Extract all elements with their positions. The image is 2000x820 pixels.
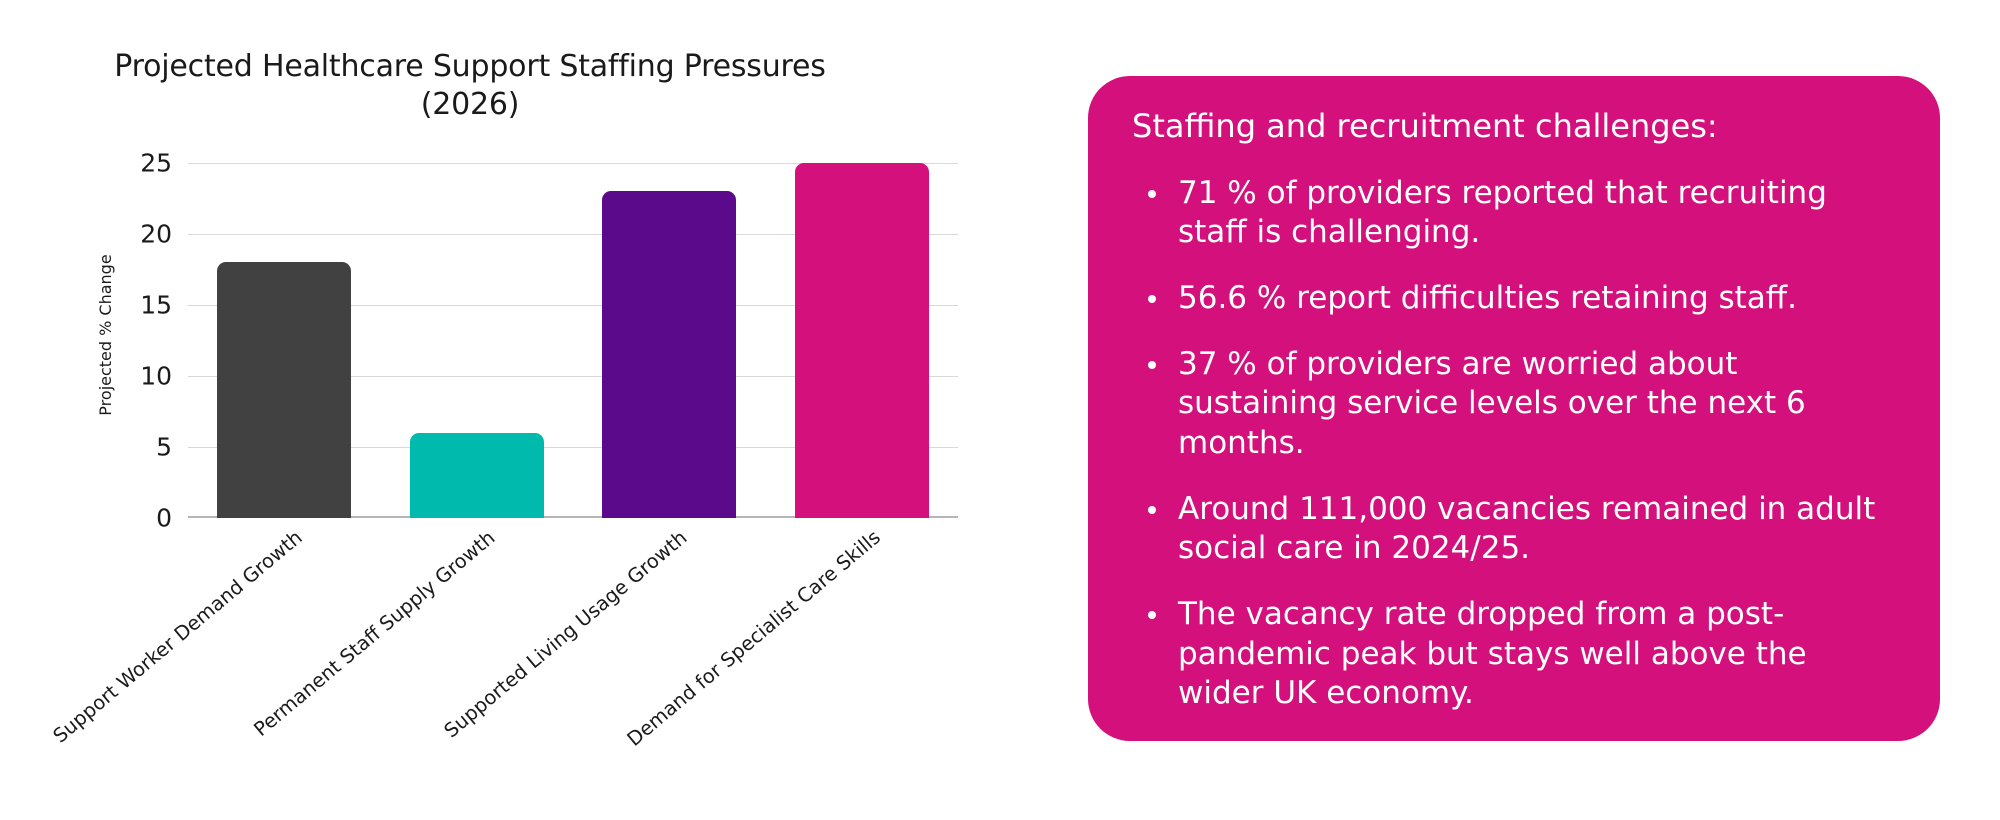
bar-demand-for-specialist-care-skills[interactable]: [795, 163, 929, 518]
list-item: 37 % of providers are worried about sust…: [1140, 345, 1896, 464]
y-tick-0: 0: [116, 504, 186, 533]
y-axis-label: Projected % Change: [96, 175, 115, 495]
bullet-text: Around 111,000 vacancies remained in adu…: [1178, 491, 1875, 567]
y-tick-20: 20: [116, 220, 186, 249]
bullet-text: 71 % of providers reported that recruiti…: [1178, 175, 1827, 251]
bar-slot-1: [381, 158, 574, 518]
y-tick-5: 5: [116, 433, 186, 462]
y-tick-25: 25: [116, 149, 186, 178]
bullet-text: 37 % of providers are worried about sust…: [1178, 346, 1806, 461]
x-slot-3: Demand for Specialist Care Skills: [766, 522, 959, 523]
bar-chart-panel: Projected Healthcare Support Staffing Pr…: [0, 0, 1050, 820]
list-item: 56.6 % report difficulties retaining sta…: [1140, 279, 1896, 319]
y-tick-15: 15: [116, 291, 186, 320]
bar-slot-2: [573, 158, 766, 518]
challenges-bullet-list: 71 % of providers reported that recruiti…: [1132, 174, 1896, 714]
bar-support-worker-demand-growth[interactable]: [217, 262, 351, 518]
card-heading: Staffing and recruitment challenges:: [1132, 106, 1896, 148]
x-slot-2: Supported Living Usage Growth: [573, 522, 766, 523]
chart-title: Projected Healthcare Support Staffing Pr…: [0, 48, 940, 123]
bullet-dot-icon: [1148, 506, 1156, 514]
bullet-dot-icon: [1148, 295, 1156, 303]
chart-title-line1: Projected Healthcare Support Staffing Pr…: [0, 48, 940, 86]
y-tick-10: 10: [116, 362, 186, 391]
bar-slot-0: [188, 158, 381, 518]
bar-permanent-staff-supply-growth[interactable]: [410, 433, 544, 518]
x-slot-0: Support Worker Demand Growth: [188, 522, 381, 523]
bullet-dot-icon: [1148, 190, 1156, 198]
chart-title-line2: (2026): [0, 86, 940, 124]
bullet-text: 56.6 % report difficulties retaining sta…: [1178, 280, 1797, 316]
bar-supported-living-usage-growth[interactable]: [602, 191, 736, 518]
bar-series: [188, 158, 958, 518]
list-item: 71 % of providers reported that recruiti…: [1140, 174, 1896, 253]
bar-slot-3: [766, 158, 959, 518]
list-item: Around 111,000 vacancies remained in adu…: [1140, 490, 1896, 569]
slide-root: Projected Healthcare Support Staffing Pr…: [0, 0, 2000, 820]
bullet-dot-icon: [1148, 361, 1156, 369]
bullet-dot-icon: [1148, 611, 1156, 619]
staffing-challenges-card: Staffing and recruitment challenges: 71 …: [1088, 76, 1940, 741]
plot-area: 25 20 15 10 5 0: [188, 158, 958, 518]
bullet-text: The vacancy rate dropped from a post-pan…: [1178, 596, 1807, 711]
list-item: The vacancy rate dropped from a post-pan…: [1140, 595, 1896, 714]
x-slot-1: Permanent Staff Supply Growth: [381, 522, 574, 523]
x-axis-tick-labels: Support Worker Demand Growth Permanent S…: [188, 522, 958, 523]
